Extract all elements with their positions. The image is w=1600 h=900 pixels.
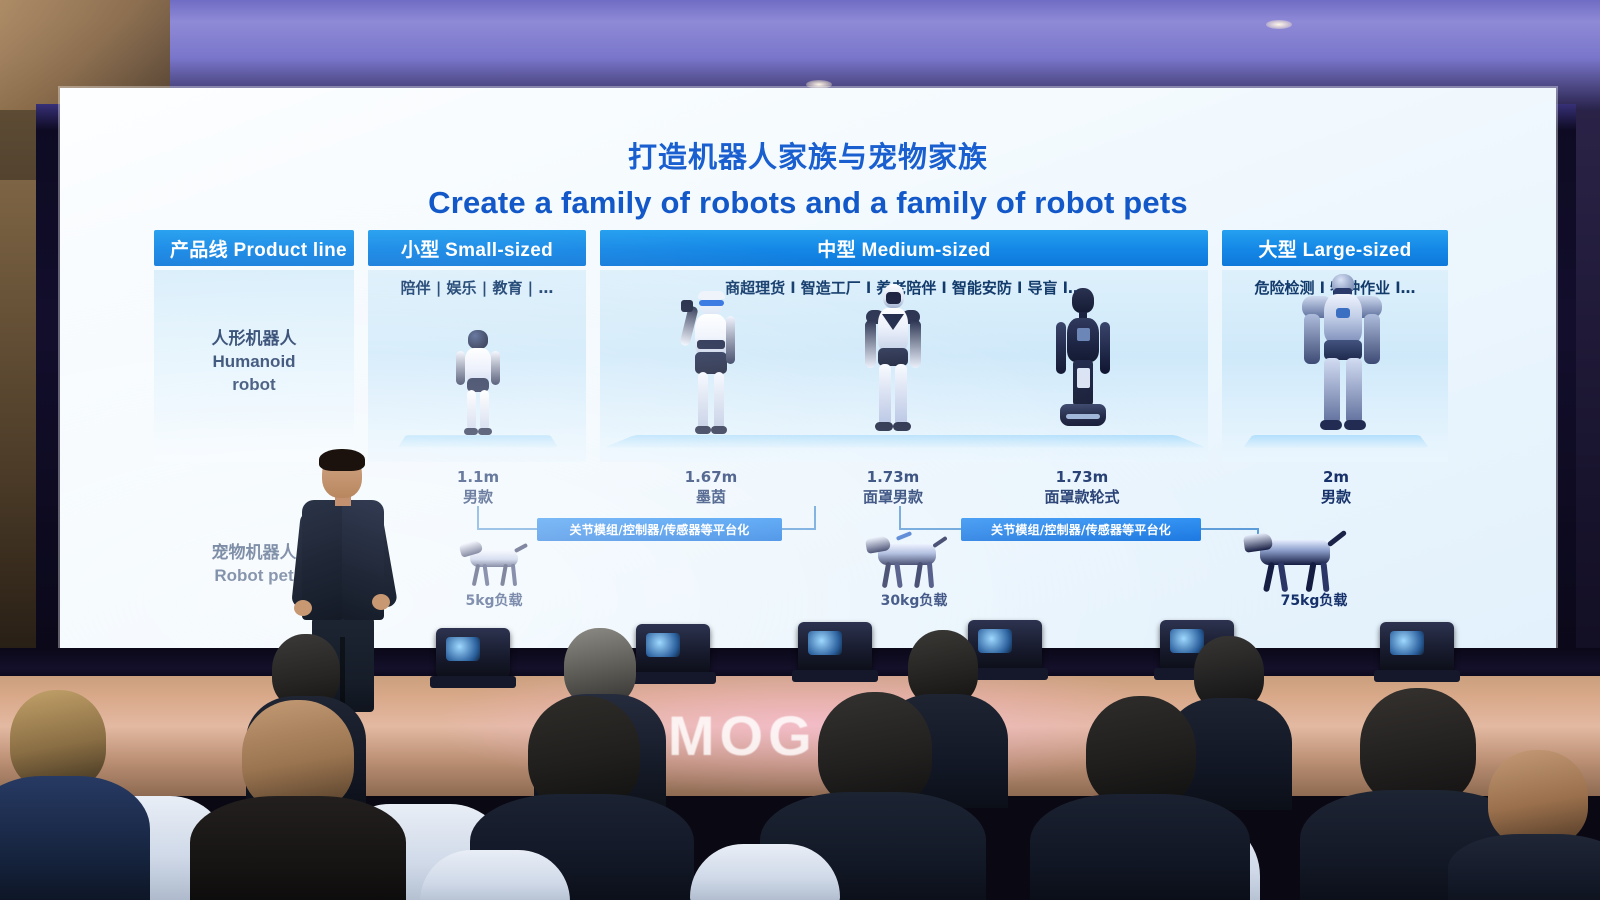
robot-chest-panel [1077, 328, 1090, 341]
robot-arm-left [1056, 322, 1066, 374]
robot-medium-1.67m [678, 288, 744, 444]
robot-arm-left [865, 320, 876, 368]
robot-leg-left [698, 372, 708, 430]
pet-leg [500, 564, 508, 586]
robot-cap [698, 291, 725, 299]
robot-base-strip [1066, 414, 1100, 419]
column-header-medium: 中型 Medium-sized [600, 230, 1208, 266]
pet-tail [932, 536, 948, 548]
robot-medium-1.73m-masked [854, 284, 932, 444]
audience-shoulders [0, 776, 150, 900]
presentation-slide: 打造机器人家族与宠物家族 Create a family of robots a… [60, 88, 1556, 648]
audience-member [1030, 696, 1250, 900]
robot-hand-raised [681, 300, 693, 312]
pet-leg [1278, 562, 1289, 593]
pet-leg [511, 564, 517, 586]
spec-variant: 面罩款轮式 [1012, 488, 1152, 508]
audience-head [818, 692, 932, 808]
spec-height: 1.73m [823, 468, 963, 488]
robot-foot-right [478, 428, 492, 435]
subheader-small: 陪伴 | 娱乐 | 教育 | … [368, 270, 586, 304]
connector-horizontal [477, 528, 537, 530]
pet-leg [894, 562, 903, 588]
robot-foot-right [893, 422, 911, 431]
robot-foot-left [1320, 420, 1342, 430]
robot-arm-right [491, 351, 500, 385]
audience-head [528, 696, 640, 810]
spec-height: 2m [1266, 468, 1406, 488]
robot-torso [695, 314, 727, 356]
audience-head [1488, 750, 1588, 846]
robot-chest-core [1336, 308, 1350, 318]
robot-arm-right [1100, 322, 1110, 374]
pet-antenna [896, 531, 912, 541]
audience-area [0, 600, 1600, 900]
robot-pet-75kg [1234, 526, 1364, 594]
spec-height: 1.67m [641, 468, 781, 488]
audience-shoulders [1448, 834, 1600, 900]
spec-variant: 男款 [1266, 488, 1406, 508]
platform-bar-right: 关节模组/控制器/传感器等平台化 [961, 518, 1201, 541]
ceiling-downlight [1266, 20, 1292, 29]
connector-horizontal [782, 528, 816, 530]
audience-head [10, 690, 106, 790]
robot-leg-left [1324, 358, 1340, 424]
spec-medium-1.73m-a: 1.73m 面罩男款 [823, 468, 963, 507]
column-header-large: 大型 Large-sized [1222, 230, 1448, 266]
pet-leg [1305, 562, 1316, 593]
robot-column-screen [1077, 368, 1090, 388]
row-label-chinese: 人形机器人 [164, 328, 344, 351]
robot-arm-left [456, 351, 465, 385]
robot-pelvis [695, 352, 727, 374]
robot-pelvis [1324, 340, 1362, 360]
connector-vertical [899, 506, 901, 530]
robot-foot-left [464, 428, 478, 435]
column-header-product-line: 产品线 Product line [154, 230, 354, 266]
robot-foot-right [1344, 420, 1366, 430]
platform-bar-left: 关节模组/控制器/传感器等平台化 [537, 518, 782, 541]
robot-foot-right [711, 426, 727, 434]
audience-member [0, 690, 150, 900]
robot-leg-left [467, 390, 476, 430]
spec-medium-1.67m: 1.67m 墨茵 [641, 468, 781, 507]
robot-arm-right [726, 316, 735, 364]
robot-foot-left [695, 426, 711, 434]
audience-shoulders [190, 796, 406, 900]
slide-title-english: Create a family of robots and a family o… [60, 185, 1556, 221]
spec-variant: 面罩男款 [823, 488, 963, 508]
robot-arm-left [1304, 314, 1320, 364]
robot-leg-left [879, 364, 891, 426]
slide-title-chinese: 打造机器人家族与宠物家族 [60, 134, 1556, 176]
robot-torso [1324, 294, 1362, 344]
robot-leg-right [895, 364, 907, 426]
spec-height: 1.73m [1012, 468, 1152, 488]
robot-arm-right [910, 320, 921, 368]
audience-head [1086, 696, 1196, 808]
robot-small-1.1m [454, 330, 502, 442]
row-label-english-1: Humanoid [164, 351, 344, 374]
row-label-english-2: robot [164, 374, 344, 397]
pet-leg [482, 564, 489, 586]
robot-visor [699, 300, 724, 306]
robot-medium-1.73m-wheeled [1044, 288, 1120, 444]
spec-large-2m: 2m 男款 [1266, 468, 1406, 507]
robot-pet-30kg [854, 530, 964, 592]
conference-photo-scene: OMODA | JAECOO | AiMOGA 打造机器人家族与宠物家族 Cre… [0, 0, 1600, 900]
robot-leg-right [480, 390, 489, 430]
robot-foot-left [875, 422, 893, 431]
pet-leg [472, 564, 480, 586]
presenter-hair [319, 449, 365, 471]
robot-chest-band [697, 340, 725, 349]
pet-leg [882, 562, 891, 588]
spec-variant: 墨茵 [641, 488, 781, 508]
slide-title-block: 打造机器人家族与宠物家族 Create a family of robots a… [60, 134, 1556, 221]
robot-leg-right [714, 372, 724, 430]
robot-head [1072, 288, 1094, 313]
pet-leg [927, 562, 934, 588]
pet-tail [514, 543, 528, 553]
pet-tail [1327, 530, 1347, 547]
spec-medium-1.73m-b: 1.73m 面罩款轮式 [1012, 468, 1152, 507]
row-label-humanoid-robot: 人形机器人 Humanoid robot [164, 328, 344, 397]
robot-arm-right [1364, 314, 1380, 364]
audience-member [1448, 750, 1600, 900]
audience-member [190, 700, 406, 900]
robot-torso [465, 348, 491, 382]
spec-height: 1.1m [408, 468, 548, 488]
robot-face-mask [886, 292, 901, 304]
pet-leg [1320, 562, 1329, 592]
spec-small-1.1m: 1.1m 男款 [408, 468, 548, 507]
connector-vertical [477, 506, 479, 530]
spec-variant: 男款 [408, 488, 548, 508]
pet-leg [914, 562, 923, 588]
robot-pet-5kg [444, 538, 544, 592]
audience-shoulders [1030, 794, 1250, 900]
robot-head [468, 330, 488, 349]
robot-leg-right [1346, 358, 1362, 424]
robot-large-2m [1296, 274, 1388, 446]
column-header-small: 小型 Small-sized [368, 230, 586, 266]
pet-leg [1263, 562, 1275, 593]
connector-vertical [814, 506, 816, 530]
